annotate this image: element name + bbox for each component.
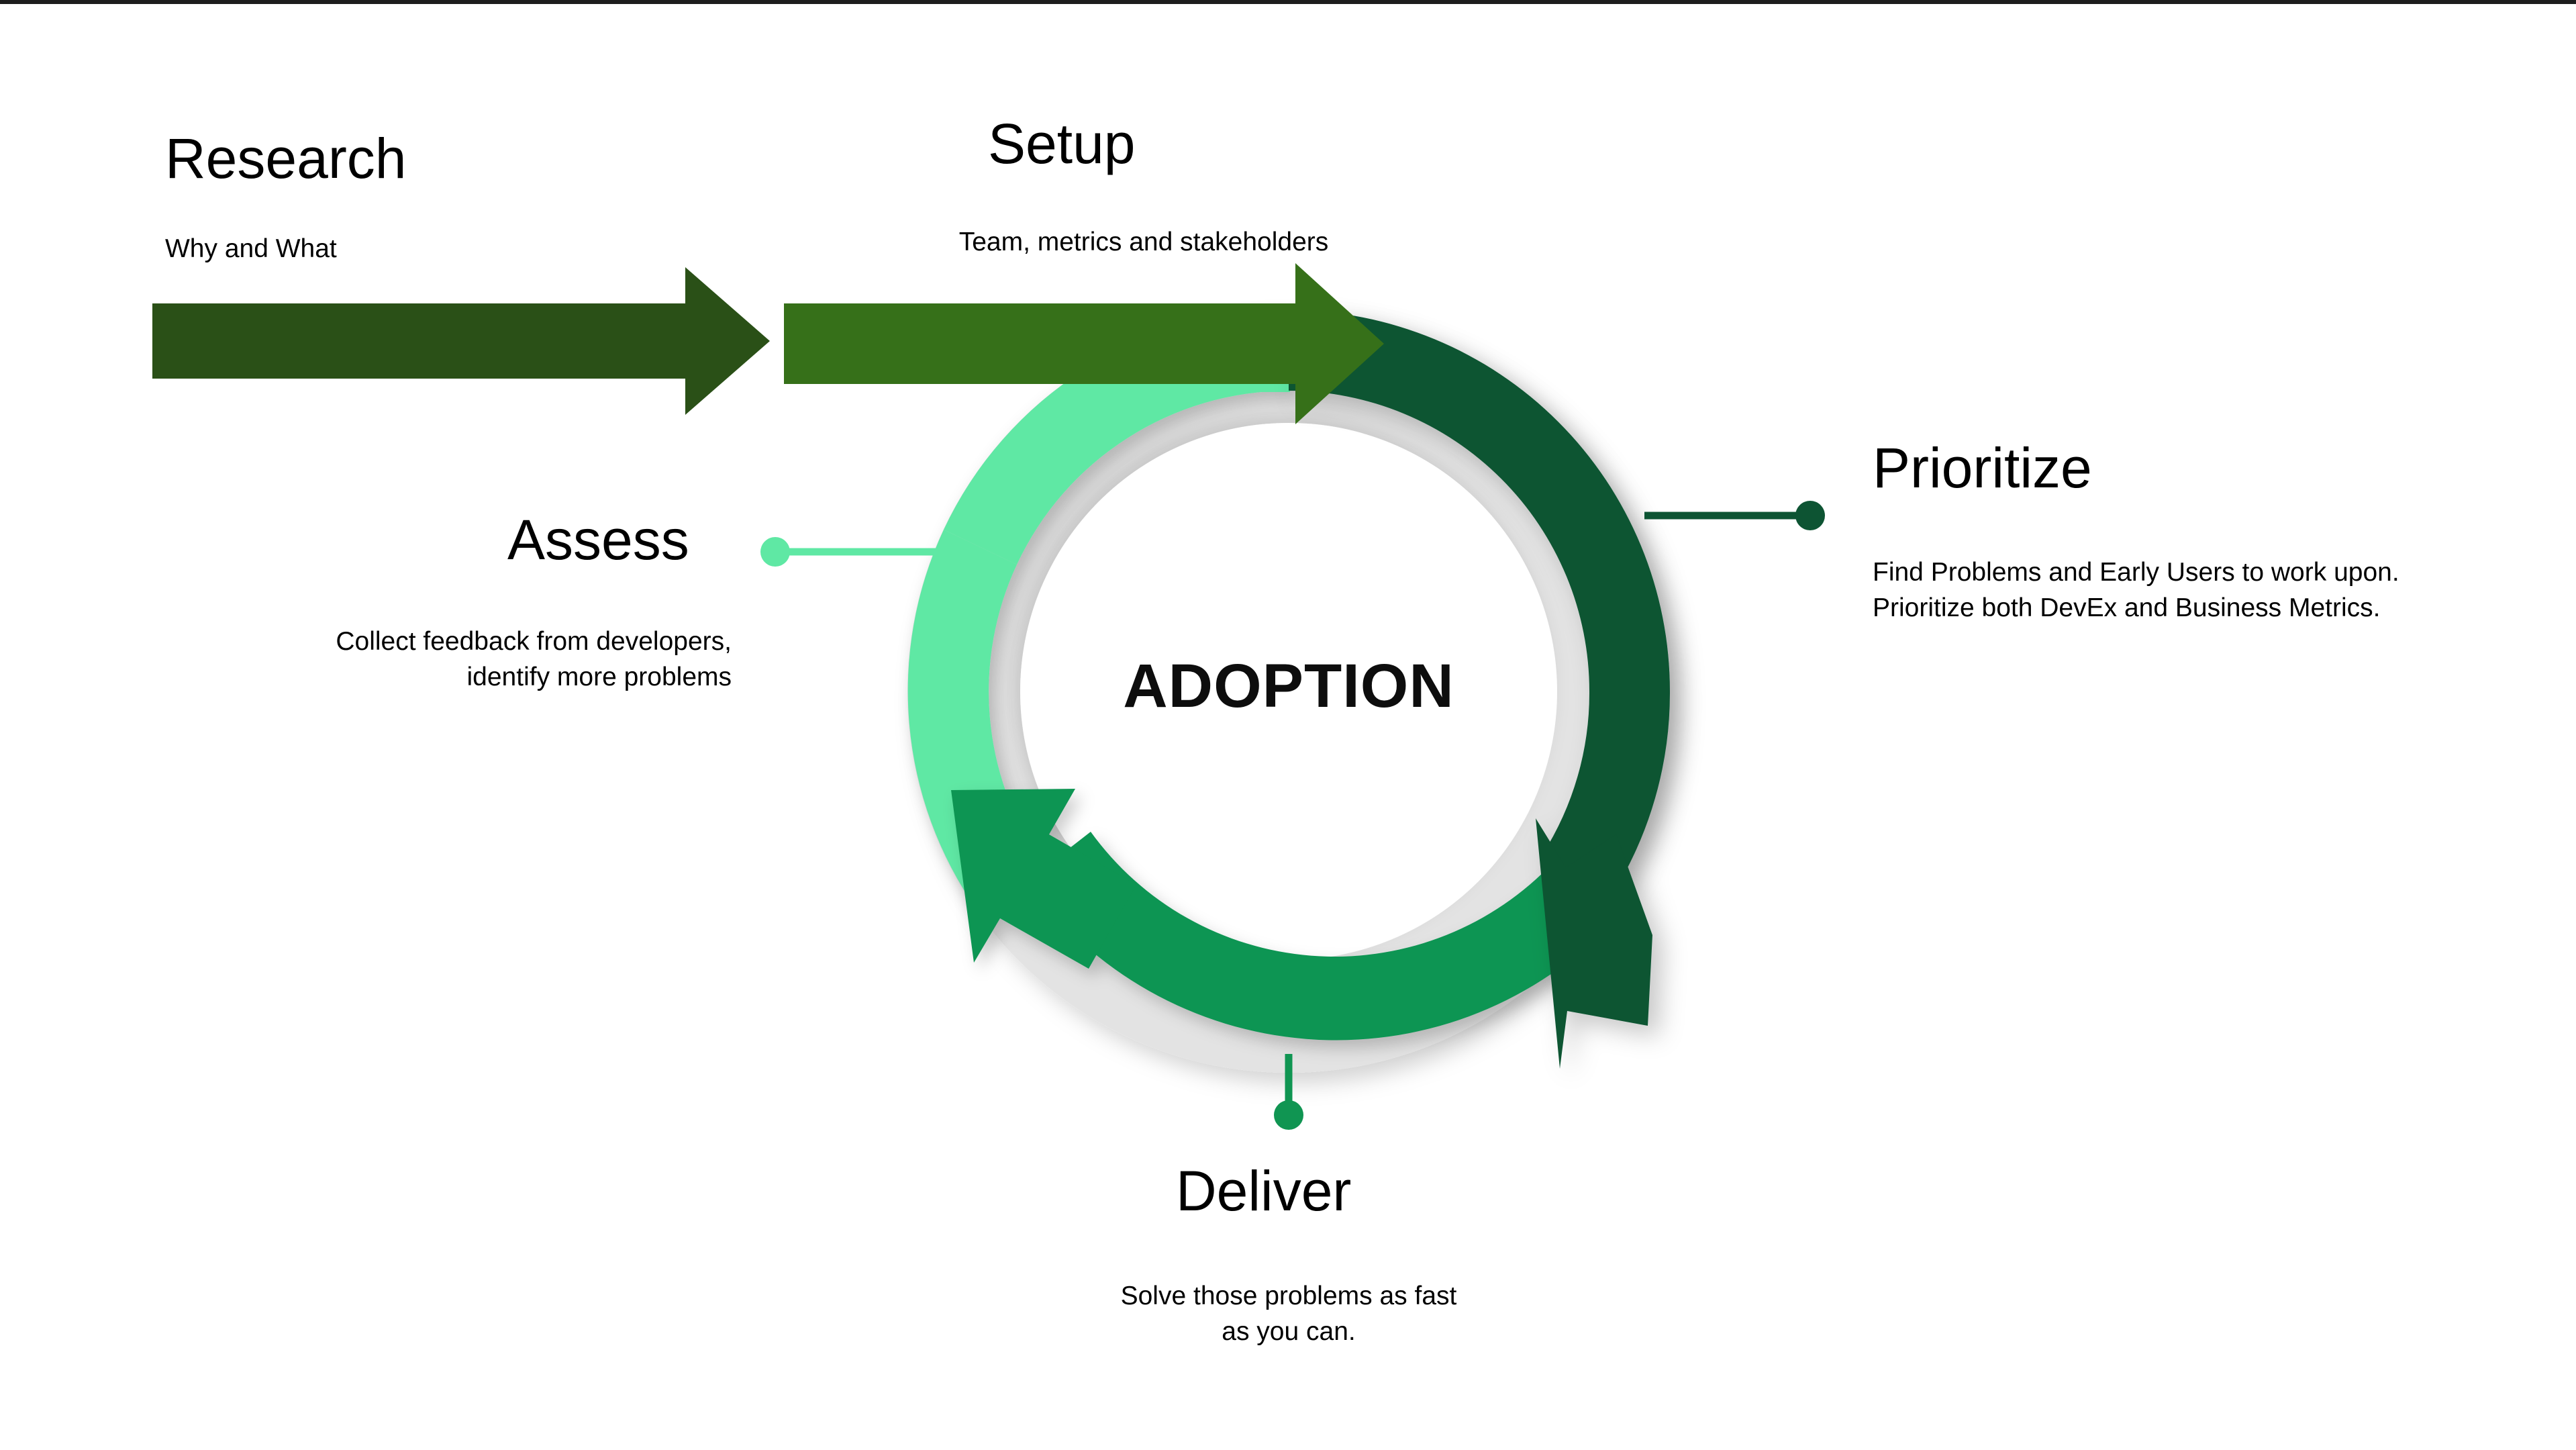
research-arrow [152, 267, 770, 415]
research-title: Research [165, 129, 407, 188]
setup-description: Team, metrics and stakeholders [875, 225, 1412, 260]
deliver-title: Deliver [1176, 1161, 1351, 1220]
assess-description-line1: Collect feedback from developers, [336, 627, 732, 656]
assess-title: Assess [507, 510, 689, 569]
prioritize-connector [1644, 501, 1825, 530]
assess-connector [760, 537, 940, 567]
deliver-description-line1: Solve those problems as fast [1121, 1282, 1457, 1310]
research-description: Why and What [165, 232, 635, 267]
deliver-description: Solve those problems as fast as you can. [1020, 1279, 1557, 1349]
assess-description: Collect feedback from developers, identi… [221, 624, 732, 695]
deliver-description-line2: as you can. [1222, 1317, 1355, 1346]
adoption-cycle-graphic [0, 0, 2576, 1450]
setup-title: Setup [988, 114, 1136, 173]
center-label: ADOPTION [953, 651, 1624, 722]
prioritize-description: Find Problems and Early Users to work up… [1873, 555, 2416, 626]
prioritize-title: Prioritize [1873, 438, 2092, 497]
diagram-canvas: Research Why and What Setup Team, metric… [0, 0, 2576, 1450]
assess-description-line2: identify more problems [467, 663, 732, 691]
